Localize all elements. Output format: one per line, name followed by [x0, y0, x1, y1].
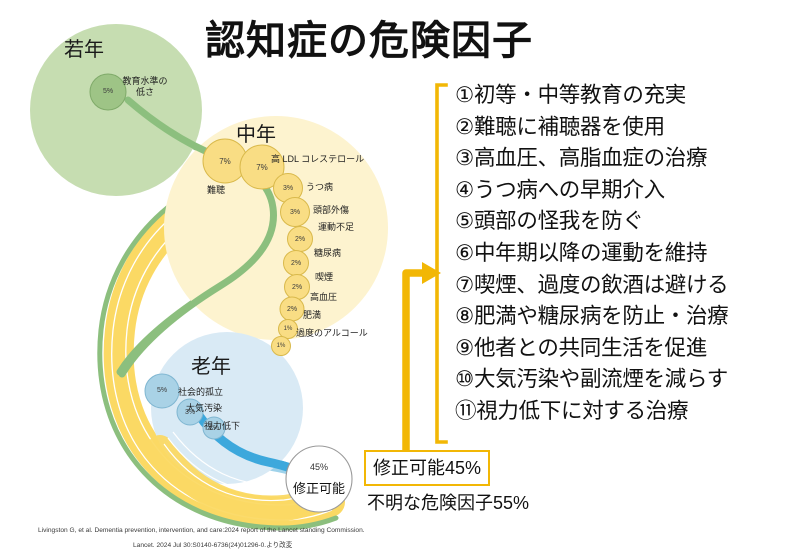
recommendation-item: ⑧肥満や糖尿病を防止・治療 [455, 301, 800, 333]
citation-line-2: Lancet. 2024 Jul 30:S0140-6736(24)01296-… [133, 539, 292, 549]
unknown-legend-text: 不明な危険因子55% [367, 489, 529, 515]
risk-label-old-1: 大気汚染 [186, 401, 222, 414]
risk-label-middle-6: 喫煙 [315, 270, 333, 283]
page-title: 認知症の危険因子 [205, 8, 605, 66]
stage-heading-middle: 中年 [236, 118, 276, 147]
risk-bubble-middle-5 [284, 251, 309, 276]
recommendation-item: ③高血圧、高脂血症の治療 [455, 143, 800, 175]
flow-arrow-shaft [406, 273, 424, 470]
risk-bubble-middle-8 [279, 320, 298, 339]
risk-label-middle-1: 高 LDL コレステロール [271, 152, 364, 165]
list-bracket [437, 85, 446, 442]
recommendation-item: ⑦喫煙、過度の飲酒は避ける [455, 270, 800, 302]
recommendation-item: ①初等・中等教育の充実 [455, 80, 800, 112]
risk-bubble-middle-3 [281, 198, 310, 227]
recommendation-item: ②難聴に補聴器を使用 [455, 112, 800, 144]
risk-bubble-middle-9 [272, 337, 291, 356]
risk-bubble-middle-4 [288, 227, 313, 252]
risk-bubble-middle-7 [280, 297, 304, 321]
stage-heading-old: 老年 [191, 350, 231, 379]
recommendation-item: ⑪視力低下に対する治療 [455, 396, 800, 428]
risk-label-middle-5: 糖尿病 [314, 246, 341, 259]
risk-label-old-2: 視力低下 [204, 419, 240, 432]
risk-label-middle-4: 運動不足 [318, 220, 354, 233]
infographic-canvas: 認知症の危険因子 若年 中年 老年 5% 教育水準の低さ 7% 7% 3% 3%… [0, 0, 800, 554]
risk-label-middle-3: 頭部外傷 [313, 203, 349, 216]
risk-label-middle-0: 難聴 [207, 183, 225, 196]
recommendation-item: ⑩大気汚染や副流煙を減らす [455, 364, 800, 396]
citation-line-1: Livingston G, et al. Dementia prevention… [38, 527, 365, 534]
risk-label-young-0: 教育水準の低さ [119, 76, 171, 99]
risk-label-old-0: 社会的孤立 [178, 385, 223, 398]
stage-heading-young: 若年 [64, 33, 104, 62]
modifiable-node-label: 修正可能 [286, 478, 352, 497]
recommendation-item: ⑥中年期以降の運動を維持 [455, 238, 800, 270]
modifiable-legend-box: 修正可能45% [364, 450, 490, 486]
risk-label-middle-9: 過度のアルコール [296, 326, 368, 339]
recommendation-item: ④うつ病への早期介入 [455, 175, 800, 207]
young-stage-circle [30, 24, 202, 196]
risk-label-middle-7: 高血圧 [310, 290, 337, 303]
modifiable-legend-text: 修正可能45% [373, 454, 481, 480]
risk-label-middle-2: うつ病 [306, 180, 333, 193]
modifiable-node-pct: 45% [297, 462, 341, 472]
risk-label-middle-8: 肥満 [303, 308, 321, 321]
risk-bubble-old-0 [145, 374, 179, 408]
recommendation-item: ⑨他者との共同生活を促進 [455, 333, 800, 365]
recommendation-list: ①初等・中等教育の充実 ②難聴に補聴器を使用 ③高血圧、高脂血症の治療 ④うつ病… [455, 80, 800, 428]
risk-bubble-middle-6 [285, 275, 310, 300]
recommendation-item: ⑤頭部の怪我を防ぐ [455, 206, 800, 238]
